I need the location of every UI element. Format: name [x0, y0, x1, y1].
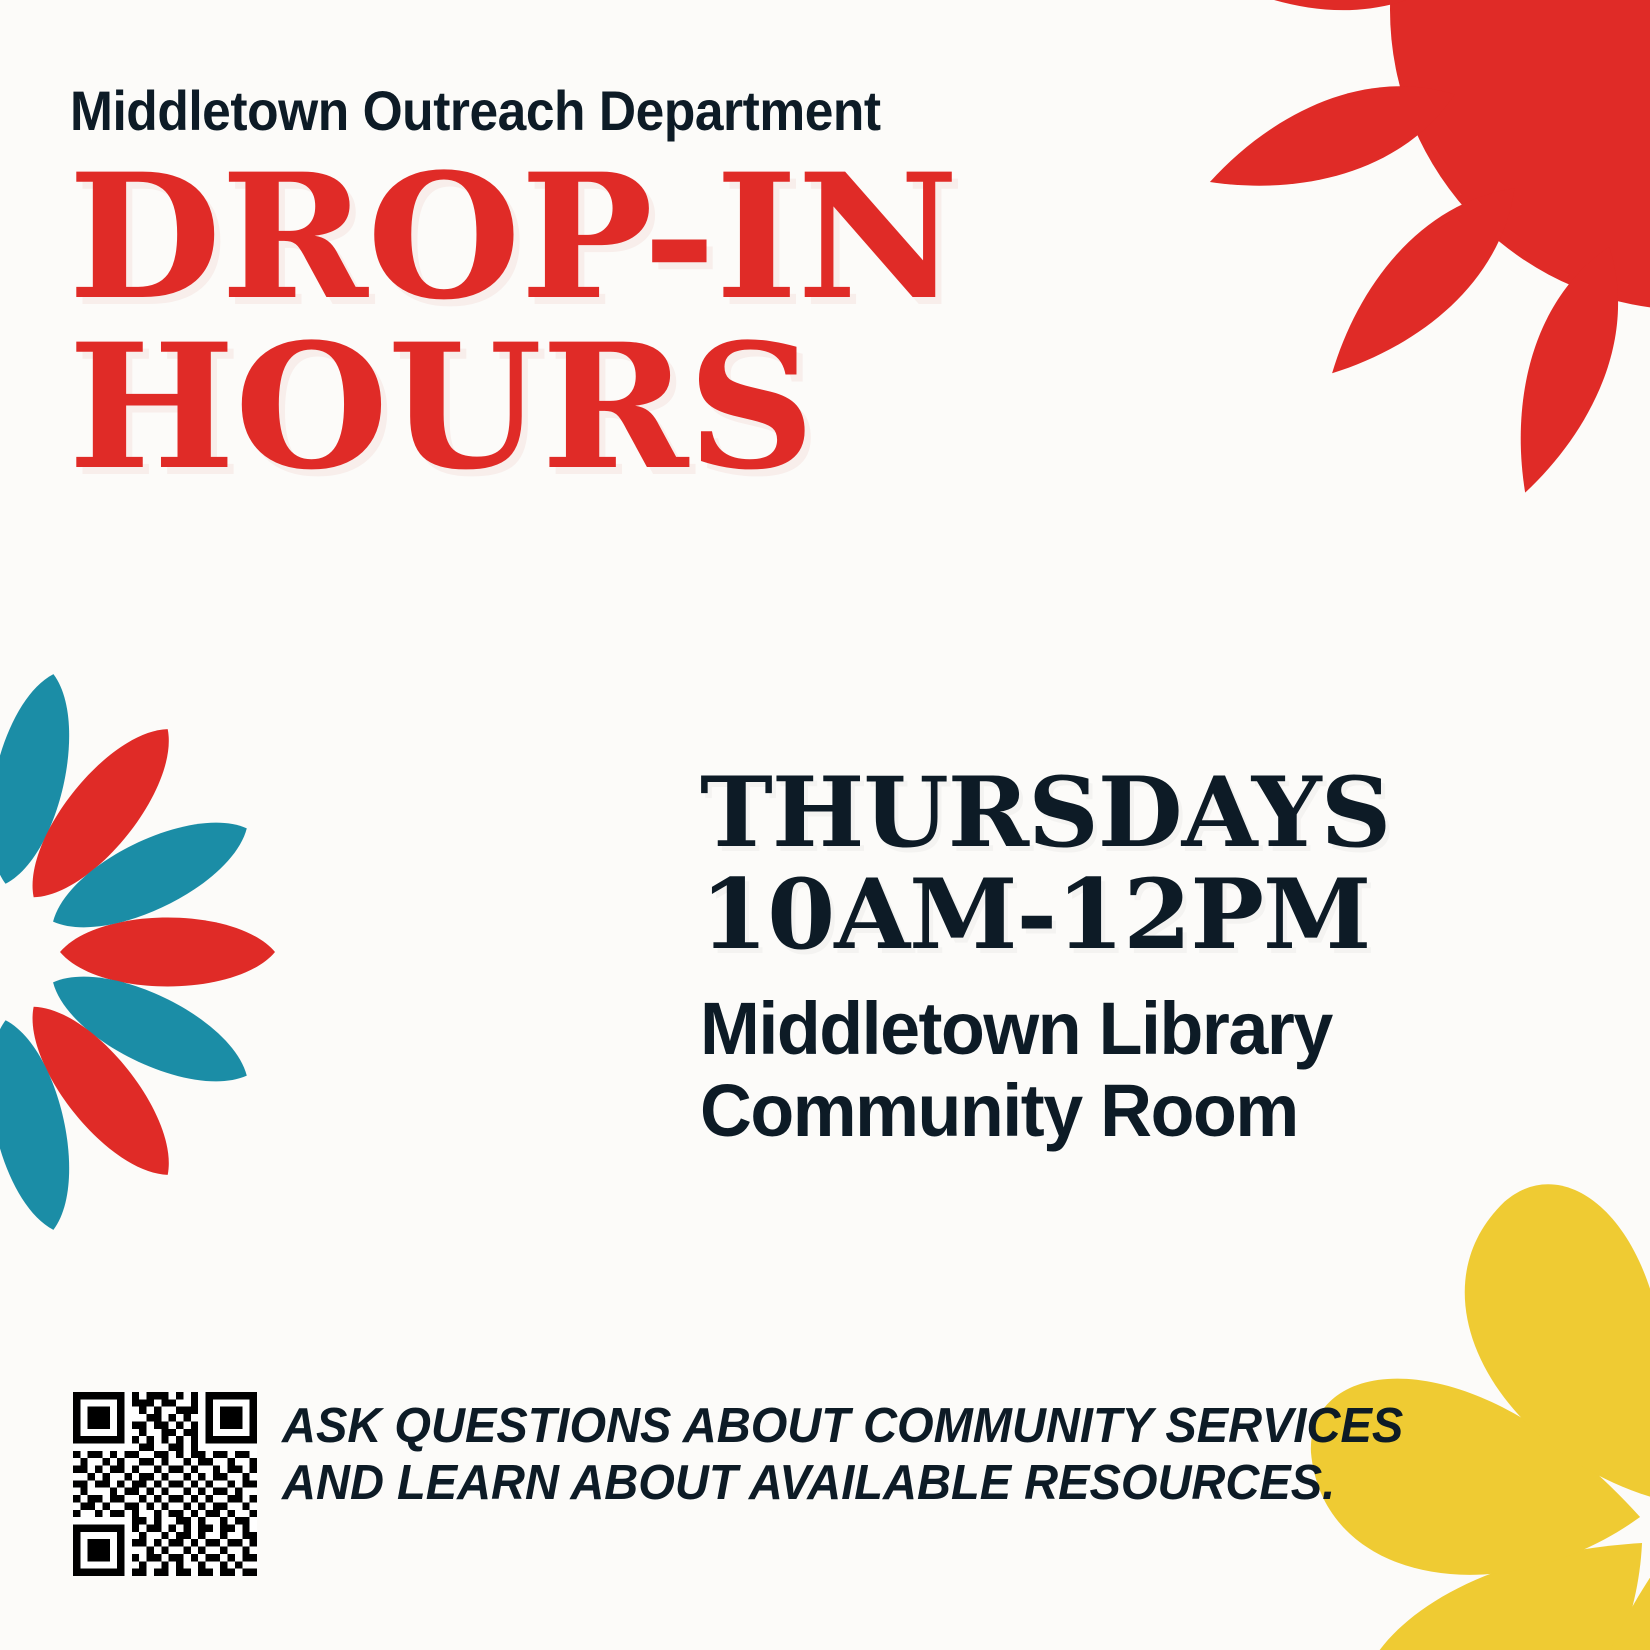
- tagline-line-1: ASK QUESTIONS ABOUT COMMUNITY SERVICES: [282, 1398, 1396, 1455]
- event-schedule: THURSDAYS 10AM-12PM: [700, 762, 1434, 966]
- event-venue: Middletown Library Community Room: [700, 988, 1398, 1154]
- page-title-line-2: HOURS: [68, 322, 1057, 492]
- event-venue-line-2: Community Room: [700, 1070, 1398, 1153]
- red-teal-flower-icon: [0, 666, 275, 1237]
- tagline: ASK QUESTIONS ABOUT COMMUNITY SERVICES A…: [282, 1398, 1396, 1512]
- red-starburst-icon: [1179, 0, 1650, 521]
- page-title: DROP-IN HOURS: [68, 152, 1057, 493]
- tagline-line-2: AND LEARN ABOUT AVAILABLE RESOURCES.: [282, 1455, 1396, 1512]
- event-day: THURSDAYS: [700, 762, 1434, 864]
- page-eyebrow: Middletown Outreach Department: [70, 78, 881, 143]
- page-title-line-1: DROP-IN: [68, 152, 1057, 322]
- qr-code-svg[interactable]: [73, 1392, 257, 1576]
- event-info-block: THURSDAYS 10AM-12PM Middletown Library C…: [700, 762, 1420, 1153]
- event-time: 10AM-12PM: [700, 864, 1434, 966]
- poster-canvas: Middletown Outreach Department DROP-IN H…: [0, 0, 1650, 1650]
- event-venue-line-1: Middletown Library: [700, 988, 1398, 1071]
- qr-code[interactable]: [73, 1392, 257, 1576]
